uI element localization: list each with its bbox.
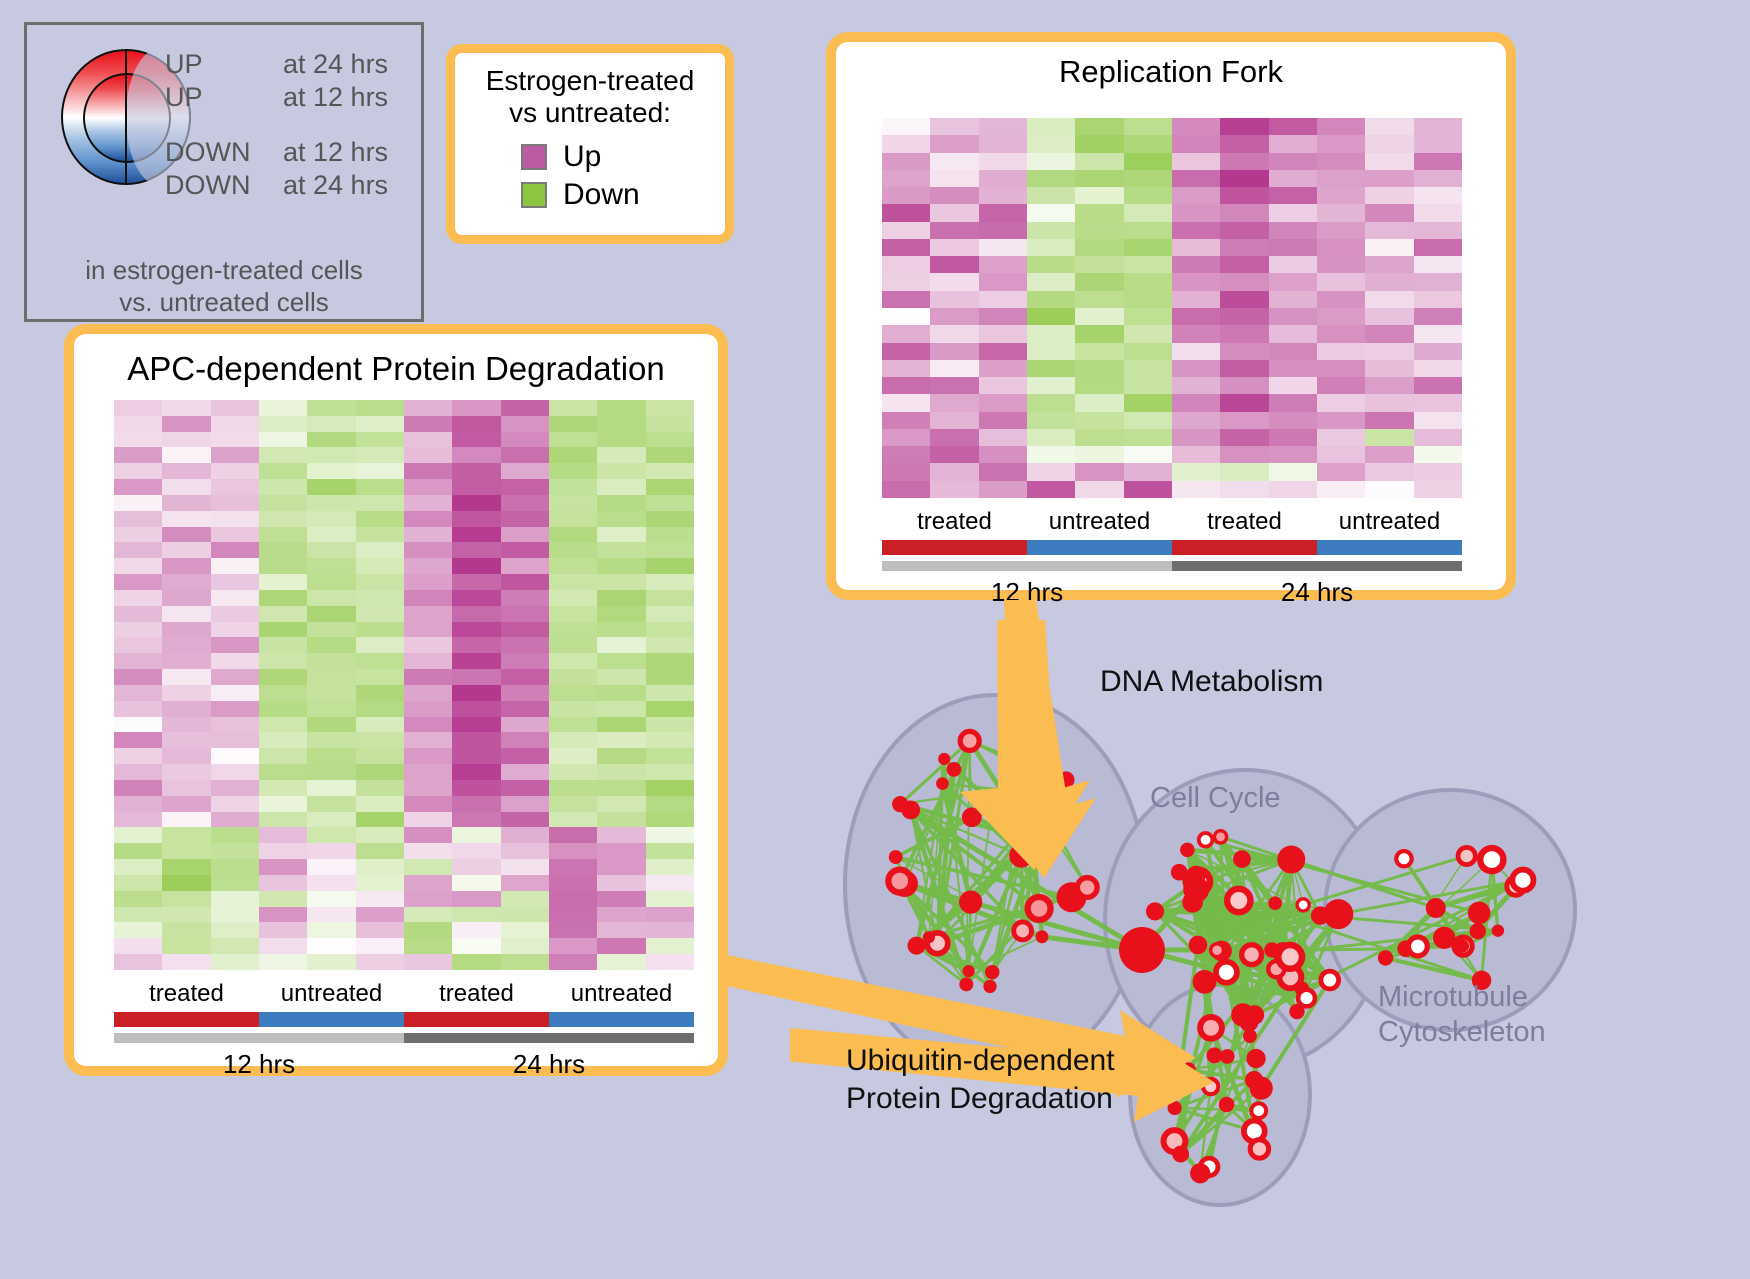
heatmap-cell xyxy=(646,954,694,970)
heatmap-cell xyxy=(597,653,645,669)
heatmap-cell xyxy=(307,875,355,891)
heatmap-cell xyxy=(501,479,549,495)
network-node xyxy=(923,931,935,943)
heatmap-cell xyxy=(404,685,452,701)
sample-axis-replication: treated untreated treated untreated 12 h… xyxy=(882,508,1462,608)
heatmap-cell xyxy=(1124,343,1172,360)
heatmap-cell xyxy=(1027,273,1075,290)
heatmap-cell xyxy=(1269,135,1317,152)
network-node xyxy=(1468,902,1491,925)
heatmap-cell xyxy=(1414,291,1462,308)
network-node xyxy=(1189,936,1208,955)
heatmap-cell xyxy=(356,827,404,843)
heatmap-cell xyxy=(501,463,549,479)
heatmap-cell xyxy=(1075,135,1123,152)
heatmap-cell xyxy=(114,400,162,416)
heatmap-cell xyxy=(1269,412,1317,429)
heatmap-cell xyxy=(646,653,694,669)
heatmap-cell xyxy=(307,796,355,812)
heatmap-cell xyxy=(1027,360,1075,377)
heatmap-cell xyxy=(404,796,452,812)
heatmap-cell xyxy=(1027,187,1075,204)
heatmap-cell xyxy=(452,859,500,875)
heatmap-cell xyxy=(549,843,597,859)
heatmap-cell xyxy=(114,685,162,701)
heatmap-cell xyxy=(211,954,259,970)
time-label: 24 hrs xyxy=(404,1043,694,1080)
heatmap-cell xyxy=(549,780,597,796)
heatmap-cell xyxy=(452,527,500,543)
heatmap-cell xyxy=(597,606,645,622)
heatmap-cell xyxy=(646,574,694,590)
heatmap-cell xyxy=(597,954,645,970)
heatmap-cell xyxy=(1365,343,1413,360)
heatmap-cell xyxy=(211,717,259,733)
heatmap-cell xyxy=(114,495,162,511)
panel-title: APC-dependent Protein Degradation xyxy=(74,350,718,388)
heatmap-cell xyxy=(597,590,645,606)
heatmap-cell xyxy=(452,875,500,891)
heatmap-cell xyxy=(882,325,930,342)
network-node xyxy=(959,977,973,991)
heatmap-cell xyxy=(307,527,355,543)
heatmap-cell xyxy=(162,891,210,907)
heatmap-cell xyxy=(307,764,355,780)
heatmap-cell xyxy=(646,859,694,875)
wheel-row: UP at 24 hrs xyxy=(165,49,415,82)
heatmap-cell xyxy=(114,748,162,764)
heatmap-cell xyxy=(930,463,978,480)
heatmap-cell xyxy=(1414,446,1462,463)
network-node xyxy=(1206,1047,1222,1063)
heatmap-cell xyxy=(307,685,355,701)
heatmap-cell xyxy=(114,463,162,479)
heatmap-cell xyxy=(404,954,452,970)
heatmap-cell xyxy=(1414,170,1462,187)
heatmap-cell xyxy=(1269,481,1317,498)
heatmap-cell xyxy=(1027,446,1075,463)
heatmap-cell xyxy=(1172,153,1220,170)
heatmap-cell xyxy=(1220,446,1268,463)
heatmap-cell xyxy=(307,590,355,606)
heatmap-cell xyxy=(452,796,500,812)
heatmap-cell xyxy=(646,606,694,622)
heatmap-cell xyxy=(404,574,452,590)
heatmap-cell xyxy=(1269,170,1317,187)
heatmap-cell xyxy=(1365,187,1413,204)
heatmap-cell xyxy=(1027,153,1075,170)
network-node xyxy=(1036,930,1049,943)
heatmap-cell xyxy=(501,574,549,590)
heatmap-cell xyxy=(501,891,549,907)
heatmap-cell xyxy=(597,416,645,432)
heatmap-cell xyxy=(646,891,694,907)
heatmap-cell xyxy=(1365,135,1413,152)
heatmap-cell xyxy=(356,764,404,780)
heatmap-cell xyxy=(1027,135,1075,152)
heatmap-cell xyxy=(211,669,259,685)
heatmap-cell xyxy=(501,637,549,653)
heatmap-cell xyxy=(1365,118,1413,135)
heatmap-cell xyxy=(162,812,210,828)
heatmap-cell xyxy=(1075,429,1123,446)
heatmap-cell xyxy=(356,622,404,638)
wheel-key: UP xyxy=(165,49,283,80)
heatmap-cell xyxy=(1027,222,1075,239)
heatmap-cell xyxy=(1172,291,1220,308)
heatmap-cell xyxy=(549,922,597,938)
up-swatch-icon xyxy=(521,144,547,170)
heatmap-cell xyxy=(307,447,355,463)
heatmap-cell xyxy=(356,922,404,938)
heatmap-cell xyxy=(1075,256,1123,273)
heatmap-cell xyxy=(1414,394,1462,411)
heatmap-cell xyxy=(501,827,549,843)
heatmap-cell xyxy=(1027,118,1075,135)
heatmap-cell xyxy=(597,907,645,923)
heatmap-cell xyxy=(162,764,210,780)
heatmap-cell xyxy=(549,447,597,463)
heatmap-cell xyxy=(1172,463,1220,480)
heatmap-cell xyxy=(646,495,694,511)
heatmap-cell xyxy=(979,204,1027,221)
heatmap-cell xyxy=(549,558,597,574)
heatmap-cell xyxy=(979,343,1027,360)
network-node xyxy=(1171,864,1188,881)
heatmap-cell xyxy=(882,429,930,446)
heatmap-cell xyxy=(452,479,500,495)
heatmap-cell xyxy=(162,732,210,748)
heatmap-cell xyxy=(404,542,452,558)
wheel-row: DOWN at 12 hrs xyxy=(165,137,415,170)
heatmap-cell xyxy=(646,622,694,638)
heatmap-cell xyxy=(452,717,500,733)
heatmap-cell xyxy=(597,685,645,701)
heatmap-cell xyxy=(259,606,307,622)
heatmap-cell xyxy=(1027,343,1075,360)
heatmap-cell xyxy=(979,325,1027,342)
heatmap-cell xyxy=(259,495,307,511)
heatmap-cell xyxy=(882,273,930,290)
heatmap-cell xyxy=(259,653,307,669)
heatmap-cell xyxy=(1124,291,1172,308)
heatmap-cell xyxy=(114,606,162,622)
heatmap-cell xyxy=(549,859,597,875)
heatmap-cell xyxy=(1365,153,1413,170)
heatmap-cell xyxy=(1269,394,1317,411)
heatmap-cell xyxy=(549,875,597,891)
heatmap-cell xyxy=(1124,412,1172,429)
network-node xyxy=(985,965,999,979)
figure-canvas: UP at 24 hrs UP at 12 hrs DOWN at 12 hrs… xyxy=(0,0,1750,1279)
heatmap-cell xyxy=(882,481,930,498)
heatmap-cell xyxy=(307,891,355,907)
heatmap-cell xyxy=(1172,325,1220,342)
heatmap-cell xyxy=(307,859,355,875)
heatmap-cell xyxy=(549,669,597,685)
heatmap-cell xyxy=(979,429,1027,446)
heatmap-cell xyxy=(882,135,930,152)
heatmap-cell xyxy=(1414,153,1462,170)
heatmap-cell xyxy=(162,796,210,812)
legend-item-up: Up xyxy=(521,138,725,176)
heatmap-cell xyxy=(549,685,597,701)
heatmap-cell xyxy=(549,527,597,543)
heatmap-cell xyxy=(549,479,597,495)
heatmap-cell xyxy=(452,764,500,780)
heatmap-cell xyxy=(162,432,210,448)
heatmap-cell xyxy=(259,907,307,923)
heatmap-cell xyxy=(549,606,597,622)
heatmap-cell xyxy=(646,812,694,828)
heatmap-cell xyxy=(307,574,355,590)
network-node xyxy=(1180,843,1194,857)
updown-color-legend: Estrogen-treated vs untreated: Up Down xyxy=(446,44,734,244)
heatmap-cell xyxy=(549,590,597,606)
heatmap-cell xyxy=(882,239,930,256)
heatmap-cell xyxy=(114,622,162,638)
heatmap-cell xyxy=(211,542,259,558)
heatmap-cell xyxy=(162,463,210,479)
heatmap-cell xyxy=(1075,412,1123,429)
heatmap-cell xyxy=(356,479,404,495)
heatmap-cell xyxy=(549,432,597,448)
heatmap-cell xyxy=(597,558,645,574)
time-label: 24 hrs xyxy=(1172,571,1462,608)
heatmap-cell xyxy=(646,732,694,748)
heatmap-cell xyxy=(259,796,307,812)
heatmap-cell xyxy=(307,400,355,416)
heatmap-cell xyxy=(452,907,500,923)
heatmap-cell xyxy=(1317,239,1365,256)
heatmap-cell xyxy=(930,360,978,377)
heatmap-cell xyxy=(259,938,307,954)
heatmap-cell xyxy=(356,574,404,590)
heatmap-cell xyxy=(1220,222,1268,239)
heatmap-cell xyxy=(114,717,162,733)
heatmap-cell xyxy=(1317,377,1365,394)
heatmap-cell xyxy=(646,843,694,859)
heatmap-cell xyxy=(114,843,162,859)
up-label: Up xyxy=(563,140,601,174)
heatmap-cell xyxy=(646,922,694,938)
heatmap-cell xyxy=(501,907,549,923)
heatmap-cell xyxy=(646,416,694,432)
heatmap-cell xyxy=(979,394,1027,411)
heatmap-cell xyxy=(1124,135,1172,152)
panel-replication-fork: Replication Fork treated untreated treat… xyxy=(826,32,1516,600)
heatmap-cell xyxy=(114,527,162,543)
heatmap-cell xyxy=(501,954,549,970)
heatmap-cell xyxy=(162,669,210,685)
heatmap-cell xyxy=(1365,273,1413,290)
heatmap-cell xyxy=(549,796,597,812)
heatmap-cell xyxy=(1317,118,1365,135)
heatmap-cell xyxy=(259,875,307,891)
heatmap-cell xyxy=(646,938,694,954)
heatmap-cell xyxy=(1365,204,1413,221)
down-swatch-icon xyxy=(521,182,547,208)
heatmap-cell xyxy=(307,622,355,638)
heatmap-cell xyxy=(1172,273,1220,290)
heatmap-cell xyxy=(1220,412,1268,429)
network-node xyxy=(1268,896,1282,910)
heatmap-cell xyxy=(452,606,500,622)
heatmap-cell xyxy=(1172,135,1220,152)
treatment-labels: treated untreated treated untreated xyxy=(114,980,694,1012)
heatmap-cell xyxy=(114,859,162,875)
treated-band xyxy=(882,540,1027,555)
heatmap-cell xyxy=(501,843,549,859)
heatmap-cell xyxy=(930,239,978,256)
heatmap-cell xyxy=(1220,325,1268,342)
heatmap-cell xyxy=(1220,118,1268,135)
heatmap-cell xyxy=(1075,446,1123,463)
heatmap-cell xyxy=(211,843,259,859)
heatmap-cell xyxy=(1317,256,1365,273)
heatmap-cell xyxy=(1172,343,1220,360)
heatmap-cell xyxy=(549,622,597,638)
heatmap-cell xyxy=(1220,256,1268,273)
heatmap-cell xyxy=(307,542,355,558)
heatmap-cell xyxy=(1027,412,1075,429)
heatmap-cell xyxy=(1220,187,1268,204)
heatmap-cell xyxy=(404,590,452,606)
heatmap-cell xyxy=(452,812,500,828)
heatmap-cell xyxy=(1220,239,1268,256)
heatmap-cell xyxy=(211,527,259,543)
heatmap-cell xyxy=(114,907,162,923)
heatmap-cell xyxy=(452,827,500,843)
heatmap-cell xyxy=(1414,343,1462,360)
footer-line-1: in estrogen-treated cells xyxy=(27,255,421,287)
heatmap-cell xyxy=(501,859,549,875)
heatmap-cell xyxy=(1124,187,1172,204)
heatmap-cell xyxy=(646,400,694,416)
heatmap-cell xyxy=(549,463,597,479)
time-band-24hrs xyxy=(1172,561,1462,571)
heatmap-cell xyxy=(259,859,307,875)
heatmap-cell xyxy=(452,495,500,511)
heatmap-cell xyxy=(1027,481,1075,498)
heatmap-cell xyxy=(1365,463,1413,480)
heatmap-cell xyxy=(1124,256,1172,273)
treated-band xyxy=(114,1012,259,1027)
heatmap-cell xyxy=(979,377,1027,394)
heatmap-cell xyxy=(259,637,307,653)
heatmap-cell xyxy=(356,685,404,701)
treatment-label: treated xyxy=(404,980,549,1012)
heatmap-cell xyxy=(404,669,452,685)
network-node xyxy=(1028,897,1051,920)
heatmap-apc-degradation xyxy=(114,400,694,970)
heatmap-cell xyxy=(356,637,404,653)
heatmap-cell xyxy=(307,907,355,923)
heatmap-cell xyxy=(307,669,355,685)
heatmap-cell xyxy=(1317,187,1365,204)
heatmap-cell xyxy=(356,432,404,448)
heatmap-cell xyxy=(162,922,210,938)
heatmap-cell xyxy=(1124,118,1172,135)
network-node xyxy=(962,965,974,977)
treatment-label: untreated xyxy=(1317,508,1462,540)
heatmap-cell xyxy=(356,938,404,954)
heatmap-cell xyxy=(404,432,452,448)
heatmap-cell xyxy=(452,637,500,653)
heatmap-cell xyxy=(1414,308,1462,325)
heatmap-cell xyxy=(1124,239,1172,256)
heatmap-cell xyxy=(452,542,500,558)
heatmap-cell xyxy=(211,780,259,796)
heatmap-cell xyxy=(1075,308,1123,325)
heatmap-cell xyxy=(211,622,259,638)
heatmap-cell xyxy=(162,843,210,859)
heatmap-cell xyxy=(259,732,307,748)
heatmap-cell xyxy=(646,701,694,717)
heatmap-cell xyxy=(162,511,210,527)
treatment-label: treated xyxy=(882,508,1027,540)
heatmap-cell xyxy=(452,732,500,748)
heatmap-cell xyxy=(259,891,307,907)
heatmap-cell xyxy=(114,875,162,891)
heatmap-cell xyxy=(979,187,1027,204)
heatmap-cell xyxy=(597,827,645,843)
heatmap-cell xyxy=(1124,170,1172,187)
heatmap-cell xyxy=(1414,325,1462,342)
heatmap-cell xyxy=(1317,222,1365,239)
heatmap-cell xyxy=(162,717,210,733)
heatmap-cell xyxy=(597,938,645,954)
heatmap-cell xyxy=(501,685,549,701)
legend-item-down: Down xyxy=(521,176,725,214)
heatmap-cell xyxy=(597,796,645,812)
wheel-value: at 24 hrs xyxy=(283,49,388,80)
heatmap-cell xyxy=(259,416,307,432)
timepoint-labels: 12 hrs 24 hrs xyxy=(114,1043,694,1080)
treatment-label: untreated xyxy=(549,980,694,1012)
heatmap-cell xyxy=(114,812,162,828)
heatmap-cell xyxy=(1172,429,1220,446)
heatmap-cell xyxy=(1172,308,1220,325)
legend-title-line-2: vs untreated: xyxy=(455,97,725,129)
heatmap-cell xyxy=(162,400,210,416)
heatmap-cell xyxy=(162,606,210,622)
heatmap-cell xyxy=(211,938,259,954)
heatmap-cell xyxy=(549,495,597,511)
treated-band xyxy=(1172,540,1317,555)
heatmap-cell xyxy=(1075,481,1123,498)
network-node xyxy=(1233,850,1251,868)
heatmap-cell xyxy=(404,891,452,907)
heatmap-cell xyxy=(404,907,452,923)
heatmap-cell xyxy=(882,222,930,239)
network-node xyxy=(1298,990,1315,1007)
network-node xyxy=(1251,1103,1266,1118)
heatmap-cell xyxy=(1365,325,1413,342)
heatmap-cell xyxy=(1269,429,1317,446)
heatmap-cell xyxy=(452,432,500,448)
time-band-24hrs xyxy=(404,1033,694,1043)
heatmap-cell xyxy=(1365,222,1413,239)
heatmap-cell xyxy=(501,447,549,463)
heatmap-cell xyxy=(501,511,549,527)
wheel-value: at 12 hrs xyxy=(283,137,388,168)
heatmap-cell xyxy=(356,843,404,859)
heatmap-cell xyxy=(307,812,355,828)
heatmap-cell xyxy=(597,812,645,828)
heatmap-cell xyxy=(979,239,1027,256)
heatmap-cell xyxy=(1124,463,1172,480)
